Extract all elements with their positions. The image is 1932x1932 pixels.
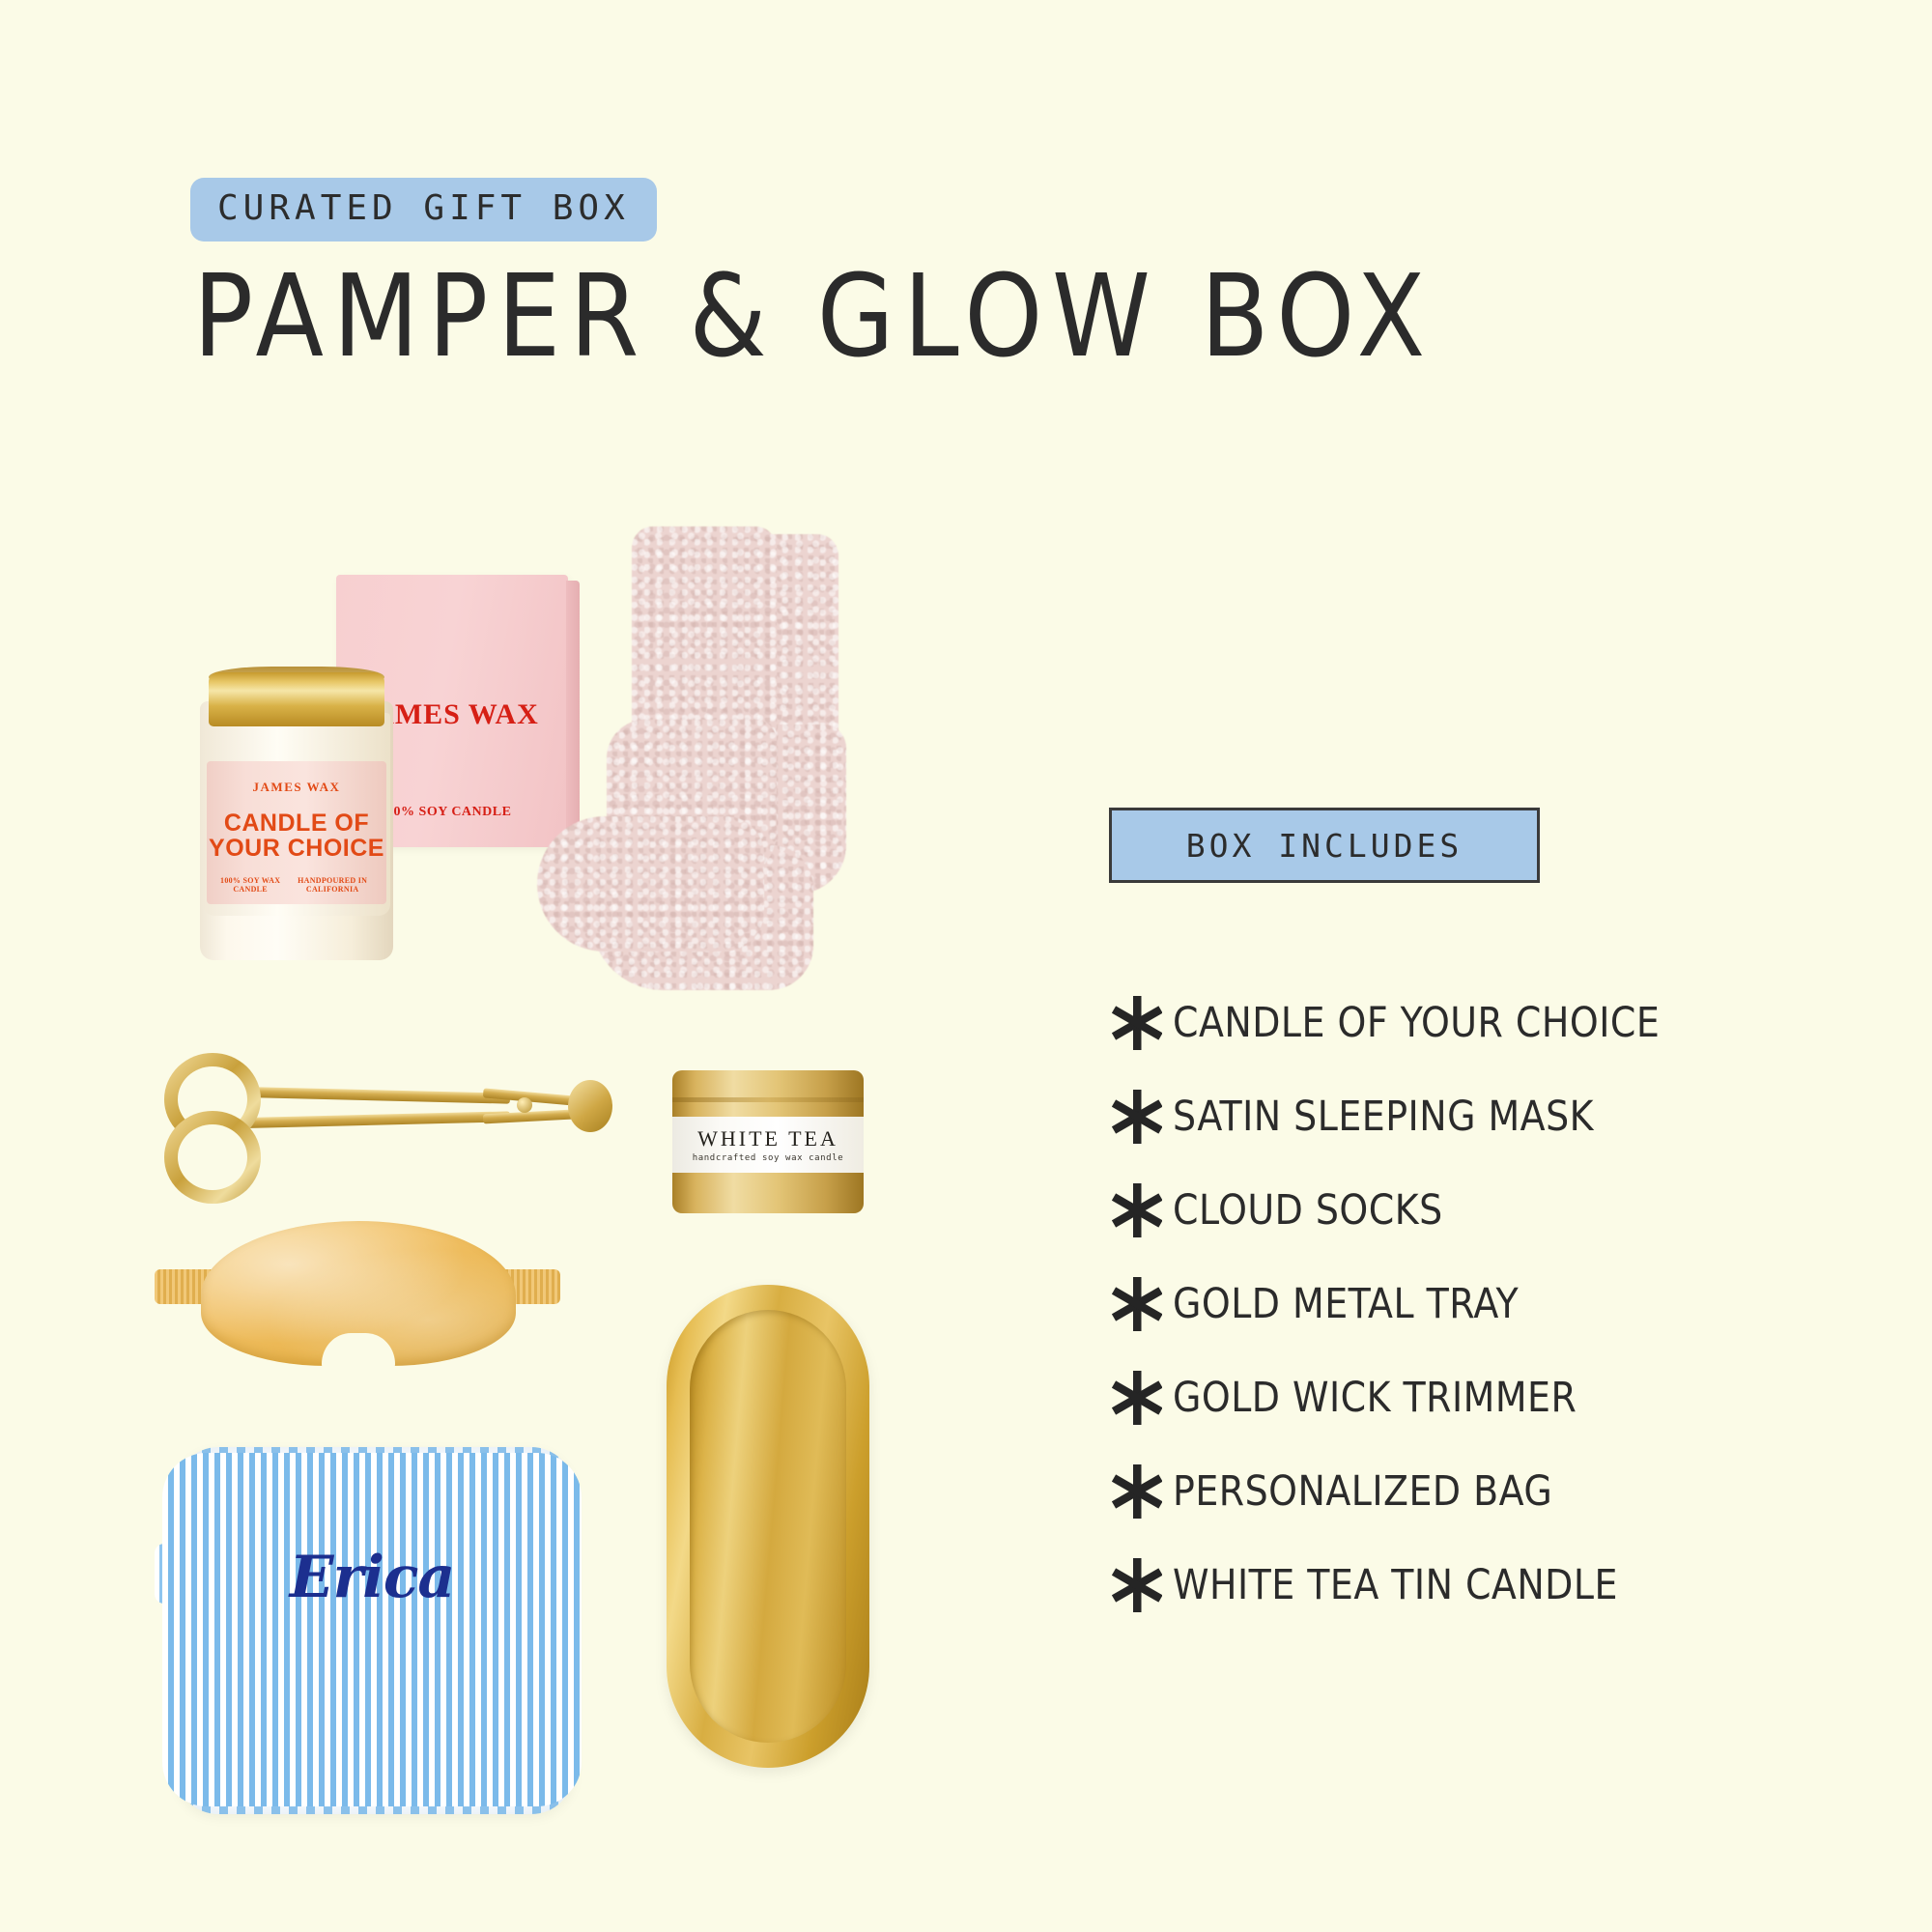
mask-nose-notch — [322, 1333, 395, 1372]
bag-piping-trim — [162, 1453, 582, 1806]
include-item: GOLD WICK TRIMMER — [1101, 1350, 1835, 1444]
trimmer-head — [568, 1080, 612, 1132]
tin-lid-seam — [672, 1097, 864, 1102]
gold-wick-trimmer-image — [164, 1051, 609, 1186]
jar-label-title-line1: CANDLE OF — [207, 810, 386, 836]
gift-box-poster: CURATED GIFT BOX PAMPER & GLOW BOX JAMES… — [0, 0, 1932, 1932]
asterisk-icon — [1101, 1558, 1173, 1612]
jar-gold-lid — [209, 672, 384, 726]
asterisk-icon — [1101, 1183, 1173, 1237]
jar-label-title-line2: YOUR CHOICE — [207, 836, 386, 861]
jar-label-brand: JAMES WAX — [207, 780, 386, 795]
include-item: GOLD METAL TRAY — [1101, 1257, 1835, 1350]
gold-metal-tray-image — [667, 1285, 869, 1768]
tray-well — [690, 1310, 846, 1743]
asterisk-icon — [1101, 1090, 1173, 1144]
include-item: WHITE TEA TIN CANDLE — [1101, 1538, 1835, 1632]
trimmer-arm-upper — [220, 1086, 510, 1103]
include-item-label: WHITE TEA TIN CANDLE — [1173, 1561, 1618, 1609]
include-item-label: GOLD WICK TRIMMER — [1173, 1374, 1577, 1422]
satin-sleeping-mask-image — [155, 1215, 560, 1389]
jar-label: JAMES WAX CANDLE OF YOUR CHOICE 100% SOY… — [207, 761, 386, 904]
candle-jar-image: JAMES WAX CANDLE OF YOUR CHOICE 100% SOY… — [200, 672, 393, 960]
white-tea-tin-candle-image: WHITE TEA handcrafted soy wax candle — [672, 1070, 864, 1213]
trimmer-handle-ring-bottom — [164, 1111, 261, 1204]
asterisk-icon — [1101, 1371, 1173, 1425]
curated-gift-box-badge: CURATED GIFT BOX — [190, 178, 657, 241]
asterisk-icon — [1101, 996, 1173, 1050]
include-item-label: PERSONALIZED BAG — [1173, 1467, 1552, 1516]
include-item-label: SATIN SLEEPING MASK — [1173, 1093, 1594, 1141]
cloud-socks-image — [537, 526, 856, 1019]
box-includes-list: CANDLE OF YOUR CHOICESATIN SLEEPING MASK… — [1101, 976, 1835, 1632]
include-item: SATIN SLEEPING MASK — [1101, 1069, 1835, 1163]
tin-label-subtitle: handcrafted soy wax candle — [672, 1153, 864, 1163]
asterisk-icon — [1101, 1277, 1173, 1331]
jar-label-title: CANDLE OF YOUR CHOICE — [207, 810, 386, 861]
bag-embroidered-name: Erica — [155, 1544, 589, 1611]
include-item: CANDLE OF YOUR CHOICE — [1101, 976, 1835, 1069]
include-item-label: CLOUD SOCKS — [1173, 1186, 1443, 1235]
include-item-label: CANDLE OF YOUR CHOICE — [1173, 999, 1660, 1047]
mask-body — [201, 1221, 516, 1366]
jar-label-footer-left: 100% SOY WAX CANDLE — [214, 876, 286, 894]
trimmer-arm-lower — [220, 1111, 510, 1128]
tin-label-title: WHITE TEA — [672, 1126, 864, 1151]
box-includes-label: BOX INCLUDES — [1186, 830, 1463, 862]
box-includes-header: BOX INCLUDES — [1109, 808, 1540, 883]
jar-label-footer-right: HANDPOURED IN CALIFORNIA — [286, 876, 379, 894]
tin-label: WHITE TEA handcrafted soy wax candle — [672, 1117, 864, 1173]
include-item-label: GOLD METAL TRAY — [1173, 1280, 1519, 1328]
include-item: CLOUD SOCKS — [1101, 1163, 1835, 1257]
personalized-bag-image: Erica — [155, 1439, 589, 1826]
asterisk-icon — [1101, 1464, 1173, 1519]
include-item: PERSONALIZED BAG — [1101, 1444, 1835, 1538]
page-title: PAMPER & GLOW BOX — [193, 259, 1435, 373]
trimmer-pivot-screw — [517, 1097, 532, 1113]
sock-front-foot — [537, 816, 764, 952]
jar-label-footer: 100% SOY WAX CANDLE HANDPOURED IN CALIFO… — [214, 876, 379, 894]
